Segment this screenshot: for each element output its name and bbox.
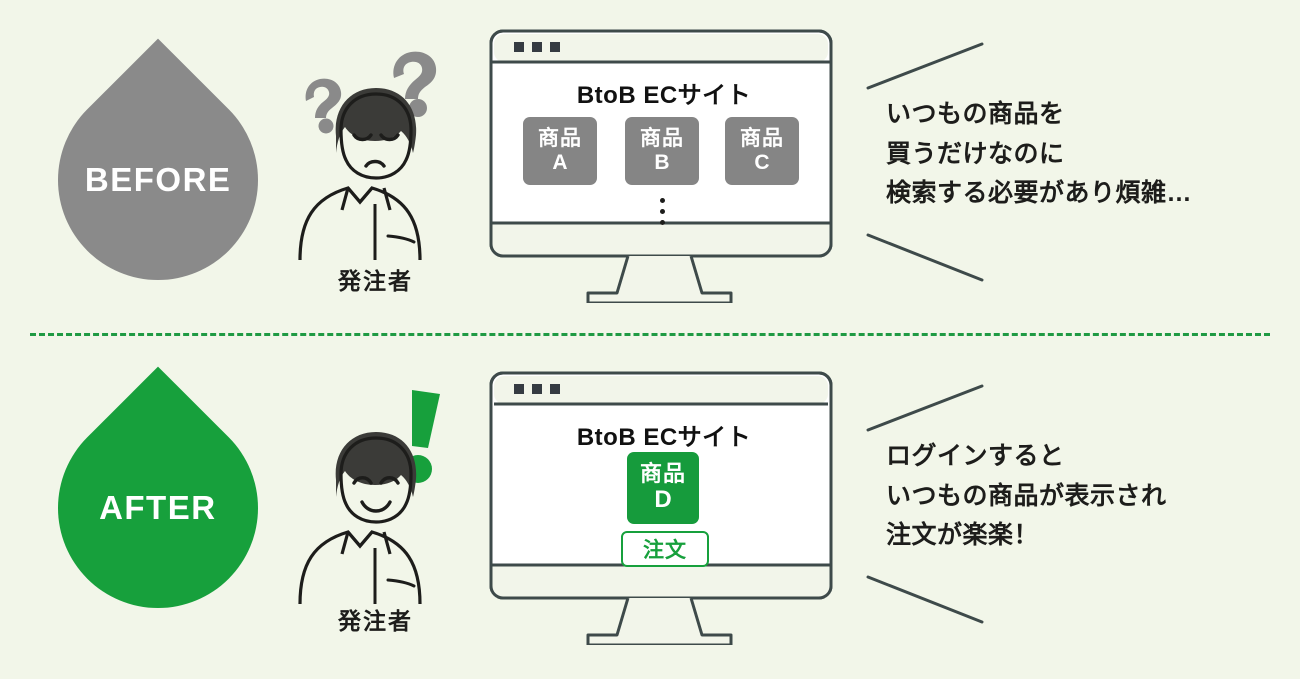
- hair: [336, 88, 417, 153]
- before-person-figure: [288, 38, 463, 268]
- shirt-outline: [300, 532, 420, 604]
- monitor-base-strip: [491, 565, 831, 598]
- shirt-pocket: [388, 236, 414, 242]
- monitor-stand: [588, 598, 731, 645]
- titlebar-bg: [494, 376, 828, 404]
- product-card-c-line2: C: [754, 151, 769, 175]
- product-card-a-line1: 商品: [538, 127, 582, 151]
- after-person-label: 発注者: [288, 602, 463, 636]
- order-button[interactable]: 注文: [621, 531, 709, 567]
- after-person-figure: [288, 382, 463, 612]
- collar: [348, 532, 372, 546]
- mouth-sad: [366, 162, 384, 167]
- product-card-d-line2: D: [654, 487, 671, 514]
- vertical-ellipsis-icon: [660, 198, 665, 225]
- before-person-label: 発注者: [288, 262, 463, 296]
- product-card-c-line1: 商品: [740, 127, 784, 151]
- section-divider: [30, 333, 1270, 336]
- after-badge-label: AFTER: [99, 489, 217, 527]
- shirt-pocket: [388, 580, 414, 586]
- titlebar-bg: [494, 34, 828, 62]
- after-screen-title: BtoB ECサイト: [488, 417, 840, 452]
- monitor-stand: [588, 256, 731, 303]
- product-card-b-line1: 商品: [640, 127, 684, 151]
- before-badge-label: BEFORE: [85, 161, 232, 199]
- product-card-d-line1: 商品: [640, 462, 686, 487]
- monitor-base-strip: [491, 223, 831, 256]
- before-callout-text: いつもの商品を 買うだけなのに 検索する必要があり煩雑…: [886, 95, 1192, 214]
- after-callout-text: ログインすると いつもの商品が表示され 注文が楽楽！: [886, 437, 1167, 556]
- window-dots-icon: [514, 42, 560, 52]
- product-card-d[interactable]: 商品 D: [627, 452, 699, 524]
- product-card-a-line2: A: [552, 151, 567, 175]
- after-callout-line-2: いつもの商品が表示され: [886, 477, 1167, 517]
- product-card-b[interactable]: 商品 B: [625, 117, 699, 185]
- before-callout-line-2: 買うだけなのに: [886, 135, 1192, 175]
- collar: [348, 188, 372, 202]
- product-card-c[interactable]: 商品 C: [725, 117, 799, 185]
- after-badge: AFTER: [17, 367, 300, 650]
- callout-line-bottom: [868, 577, 982, 622]
- infographic-canvas: BEFORE: [0, 0, 1300, 679]
- before-screen-title: BtoB ECサイト: [488, 75, 840, 110]
- before-badge: BEFORE: [17, 39, 300, 322]
- mouth-smile: [362, 502, 390, 511]
- before-callout-line-1: いつもの商品を: [886, 95, 1192, 135]
- callout-line-top: [868, 44, 982, 88]
- hair: [336, 432, 417, 497]
- callout-line-top: [868, 386, 982, 430]
- before-callout-line-3: 検索する必要があり煩雑…: [886, 174, 1192, 214]
- after-callout-line-1: ログインすると: [886, 437, 1167, 477]
- product-card-b-line2: B: [654, 151, 669, 175]
- window-dots-icon: [514, 384, 560, 394]
- after-callout-line-3: 注文が楽楽！: [886, 516, 1167, 556]
- product-card-a[interactable]: 商品 A: [523, 117, 597, 185]
- callout-line-bottom: [868, 235, 982, 280]
- shirt-outline: [300, 188, 420, 260]
